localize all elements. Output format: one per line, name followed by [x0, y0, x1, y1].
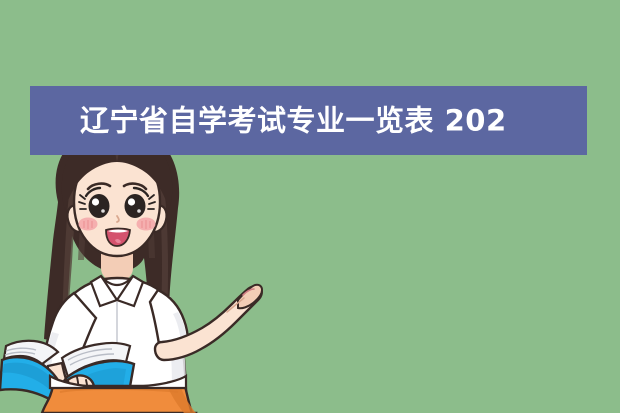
image-canvas: 辽宁省自学考试专业一览表 202 [0, 0, 620, 413]
title-banner: 辽宁省自学考试专业一览表 202 [30, 86, 587, 155]
eye-left [89, 194, 110, 218]
eye-left-highlight [92, 198, 99, 205]
eye-left-highlight-2 [101, 209, 105, 213]
cartoon-student-girl-illustration [0, 110, 300, 413]
eye-right-highlight-2 [137, 209, 141, 213]
eye-right [125, 194, 146, 218]
hand-right-thumb [238, 285, 262, 309]
page-title: 辽宁省自学考试专业一览表 202 [80, 106, 507, 135]
eye-right-highlight [128, 198, 135, 205]
